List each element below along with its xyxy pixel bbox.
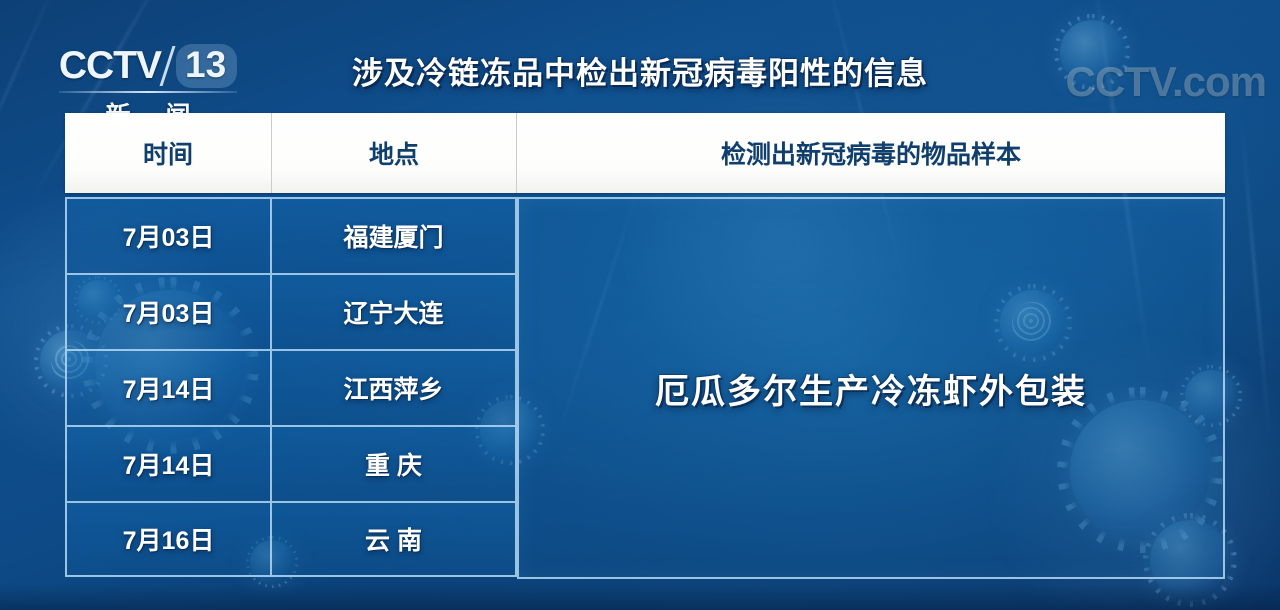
merged-sample-text: 厄瓜多尔生产冷冻虾外包装 [655,364,1087,413]
merged-sample-cell: 厄瓜多尔生产冷冻虾外包装 [517,197,1225,579]
table-cell-location: 云 南 [272,501,517,577]
column-time-cells: 7月03日 7月03日 7月14日 7月14日 7月16日 [65,197,272,577]
column-header-sample: 检测出新冠病毒的物品样本 [517,113,1225,193]
table-cell-location: 福建厦门 [272,197,517,273]
table-cell-location: 重 庆 [272,425,517,501]
table-cell-date: 7月16日 [65,501,272,577]
table-cell-location: 辽宁大连 [272,273,517,349]
table-cell-date: 7月14日 [65,349,272,425]
column-header-time: 时间 [65,113,272,193]
broadcast-screen: CCTV 13 新 闻 CCTV.com 涉及冷链冻品中检出新冠病毒阳性的信息 … [0,0,1280,610]
info-table: 时间 地点 检测出新冠病毒的物品样本 7月03日 7月03日 7月14日 7月1… [65,113,1225,579]
table-body: 7月03日 7月03日 7月14日 7月14日 7月16日 福建厦门 辽宁大连 … [65,197,1225,579]
table-cell-date: 7月03日 [65,273,272,349]
table-cell-date: 7月03日 [65,197,272,273]
page-title: 涉及冷链冻品中检出新冠病毒阳性的信息 [0,48,1280,93]
bottom-vignette [0,584,1280,610]
column-location-cells: 福建厦门 辽宁大连 江西萍乡 重 庆 云 南 [272,197,517,577]
table-header-row: 时间 地点 检测出新冠病毒的物品样本 [65,113,1225,193]
table-cell-date: 7月14日 [65,425,272,501]
column-header-location: 地点 [272,113,517,193]
table-cell-location: 江西萍乡 [272,349,517,425]
